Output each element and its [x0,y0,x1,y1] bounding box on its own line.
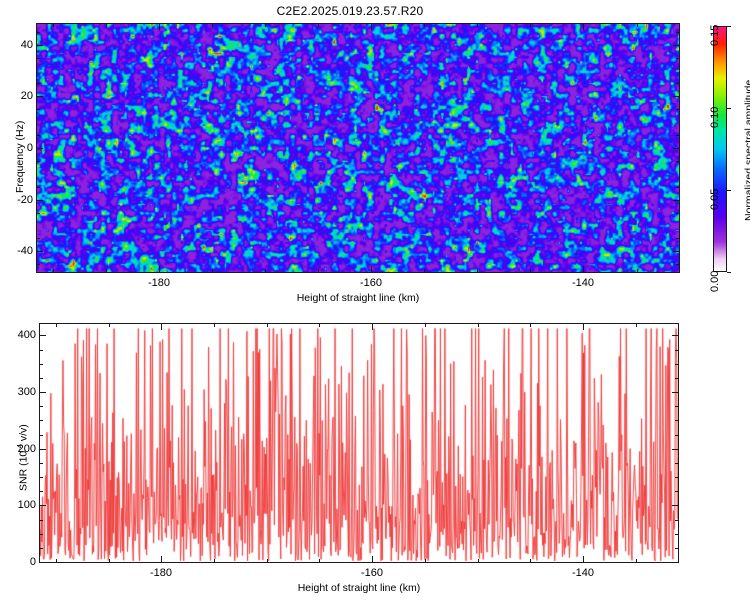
tick-mark [37,32,40,33]
tick-mark [37,83,40,84]
tick-mark [214,324,215,327]
tick-label: 40 [21,39,33,51]
tick-label: 0 [30,556,36,568]
tick-mark [676,161,679,162]
tick-mark [319,559,320,562]
tick-mark [530,559,531,562]
tick-mark [40,449,46,450]
tick-mark [56,559,57,562]
tick-mark [583,24,584,30]
tick-mark [672,392,678,393]
tick-mark [673,251,679,252]
tick-mark [530,269,531,272]
tick-mark [675,420,678,421]
tick-mark [40,406,43,407]
tick-mark [159,24,160,30]
tick-mark [40,420,43,421]
tick-label: -140 [572,567,594,579]
spectrogram-axes-frame [36,23,680,273]
tick-mark [727,108,731,109]
tick-mark [675,477,678,478]
snr-axes-frame [39,323,679,563]
tick-mark [37,58,40,59]
tick-mark [675,491,678,492]
tick-label: 100 [18,499,36,511]
tick-mark [371,266,372,272]
tick-mark [37,96,43,97]
spectrogram-y-axis-label: Frequency (Hz) [14,121,26,193]
tick-mark [40,520,43,521]
tick-mark [425,559,426,562]
tick-label: 0 [27,142,33,154]
tick-mark [212,24,213,27]
tick-mark [40,477,43,478]
tick-mark [636,559,637,562]
tick-mark [727,190,731,191]
tick-mark [676,58,679,59]
tick-mark [672,449,678,450]
tick-mark [477,269,478,272]
tick-label: -140 [572,277,594,289]
tick-mark [372,556,373,562]
tick-mark [425,324,426,327]
tick-label: -160 [360,277,382,289]
tick-mark [478,559,479,562]
page-title: C2E2.2025.019.23.57.R20 [0,4,700,18]
tick-mark [530,324,531,327]
tick-mark [672,505,678,506]
tick-label: -160 [361,567,383,579]
tick-mark [583,266,584,272]
tick-mark [37,213,40,214]
tick-mark [676,32,679,33]
tick-mark [676,213,679,214]
tick-mark [727,26,731,27]
tick-mark [673,45,679,46]
tick-mark [676,238,679,239]
tick-mark [106,24,107,27]
colorbar-tick-label: 0.10 [709,107,721,128]
snr-y-axis-label-prefix: SNR (10 [18,451,30,491]
tick-mark [583,556,584,562]
tick-mark [637,269,638,272]
tick-mark [530,24,531,27]
colorbar-tick-label: 0.00 [709,271,721,292]
tick-mark [40,562,46,563]
snr-y-axis-label-exponent: -4 [15,444,24,451]
tick-mark [318,24,319,27]
tick-mark [676,187,679,188]
tick-mark [37,251,43,252]
tick-mark [40,505,46,506]
tick-mark [672,562,678,563]
tick-mark [37,45,43,46]
tick-mark [637,24,638,27]
tick-mark [265,24,266,27]
tick-mark [40,335,46,336]
tick-mark [37,264,40,265]
tick-mark [40,392,46,393]
tick-mark [53,24,54,27]
tick-mark [424,269,425,272]
tick-mark [676,109,679,110]
tick-label: -40 [17,245,33,257]
tick-mark [159,266,160,272]
tick-mark [40,463,43,464]
tick-mark [675,520,678,521]
tick-mark [675,406,678,407]
tick-mark [40,491,43,492]
tick-mark [477,24,478,27]
snr-x-axis-label: Height of straight line (km) [40,582,678,594]
tick-mark [675,350,678,351]
tick-mark [37,135,40,136]
tick-mark [37,148,43,149]
tick-mark [319,324,320,327]
tick-mark [109,324,110,327]
tick-mark [40,548,43,549]
tick-mark [212,269,213,272]
spectrogram-x-axis-label: Height of straight line (km) [37,292,679,304]
tick-mark [676,264,679,265]
tick-mark [583,324,584,330]
tick-mark [40,534,43,535]
snr-y-axis-label-suffix: v/v) [18,424,30,444]
tick-mark [37,109,40,110]
tick-mark [267,559,268,562]
tick-mark [265,269,266,272]
tick-mark [673,148,679,149]
tick-mark [424,24,425,27]
tick-mark [40,350,43,351]
tick-mark [372,324,373,330]
tick-mark [673,96,679,97]
tick-mark [106,269,107,272]
tick-mark [478,324,479,327]
tick-label: 400 [18,329,36,341]
snr-y-axis-label: SNR (10-4 v/v) [15,424,30,491]
tick-mark [161,324,162,330]
tick-mark [56,324,57,327]
tick-mark [53,269,54,272]
tick-mark [37,238,40,239]
tick-mark [40,364,43,365]
colorbar-tick-label: 0.05 [709,189,721,210]
tick-mark [109,559,110,562]
tick-mark [672,335,678,336]
colorbar-tick-label: 0.15 [709,25,721,46]
tick-label: 300 [18,386,36,398]
tick-mark [267,324,268,327]
figure-canvas: C2E2.2025.019.23.57.R20 -180-160-140 -40… [0,0,750,600]
tick-mark [40,435,43,436]
tick-label: -180 [150,567,172,579]
tick-mark [371,24,372,30]
tick-mark [161,556,162,562]
tick-mark [676,135,679,136]
colorbar-axis-label: Normalized spectral amplitude [743,80,750,221]
tick-mark [675,364,678,365]
tick-mark [675,463,678,464]
tick-mark [675,548,678,549]
tick-mark [37,200,43,201]
tick-mark [675,435,678,436]
tick-mark [675,378,678,379]
tick-label: 20 [21,90,33,102]
tick-mark [675,534,678,535]
tick-mark [37,187,40,188]
tick-mark [636,324,637,327]
tick-mark [673,200,679,201]
tick-mark [318,269,319,272]
colorbar-gradient [713,26,727,272]
tick-mark [214,559,215,562]
tick-mark [40,378,43,379]
tick-mark [727,272,731,273]
tick-label: -180 [148,277,170,289]
tick-mark [676,83,679,84]
tick-label: -20 [17,194,33,206]
tick-mark [37,161,40,162]
